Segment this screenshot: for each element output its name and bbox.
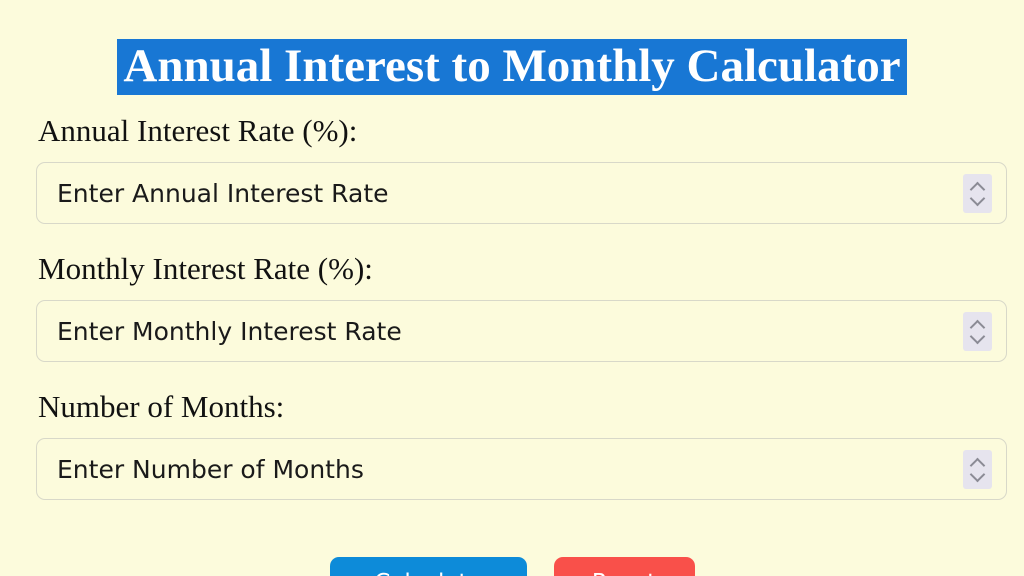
number-of-months-input[interactable] <box>37 439 963 499</box>
page-title: Annual Interest to Monthly Calculator <box>117 39 906 95</box>
field-group-number-of-months: Number of Months: <box>36 388 1008 500</box>
page-header: Annual Interest to Monthly Calculator <box>0 8 1024 127</box>
calculator-form: Annual Interest Rate (%): Monthly Intere… <box>36 112 1008 526</box>
annual-interest-rate-stepper[interactable] <box>963 174 992 213</box>
monthly-interest-rate-input[interactable] <box>37 301 963 361</box>
number-of-months-stepper[interactable] <box>963 450 992 489</box>
input-shell-number-of-months[interactable] <box>36 438 1007 500</box>
label-monthly-interest-rate: Monthly Interest Rate (%): <box>38 250 1008 288</box>
input-shell-monthly-interest-rate[interactable] <box>36 300 1007 362</box>
monthly-interest-rate-stepper[interactable] <box>963 312 992 351</box>
chevron-down-icon[interactable] <box>970 333 985 342</box>
calculator-page: Annual Interest to Monthly Calculator An… <box>0 0 1024 576</box>
field-group-monthly-interest-rate: Monthly Interest Rate (%): <box>36 250 1008 362</box>
chevron-down-icon[interactable] <box>970 471 985 480</box>
action-button-row: Calculate Reset <box>0 557 1024 576</box>
field-group-annual-interest-rate: Annual Interest Rate (%): <box>36 112 1008 224</box>
label-annual-interest-rate: Annual Interest Rate (%): <box>38 112 1008 150</box>
chevron-down-icon[interactable] <box>970 195 985 204</box>
annual-interest-rate-input[interactable] <box>37 163 963 223</box>
calculate-button[interactable]: Calculate <box>330 557 527 576</box>
reset-button[interactable]: Reset <box>554 557 695 576</box>
label-number-of-months: Number of Months: <box>38 388 1008 426</box>
input-shell-annual-interest-rate[interactable] <box>36 162 1007 224</box>
